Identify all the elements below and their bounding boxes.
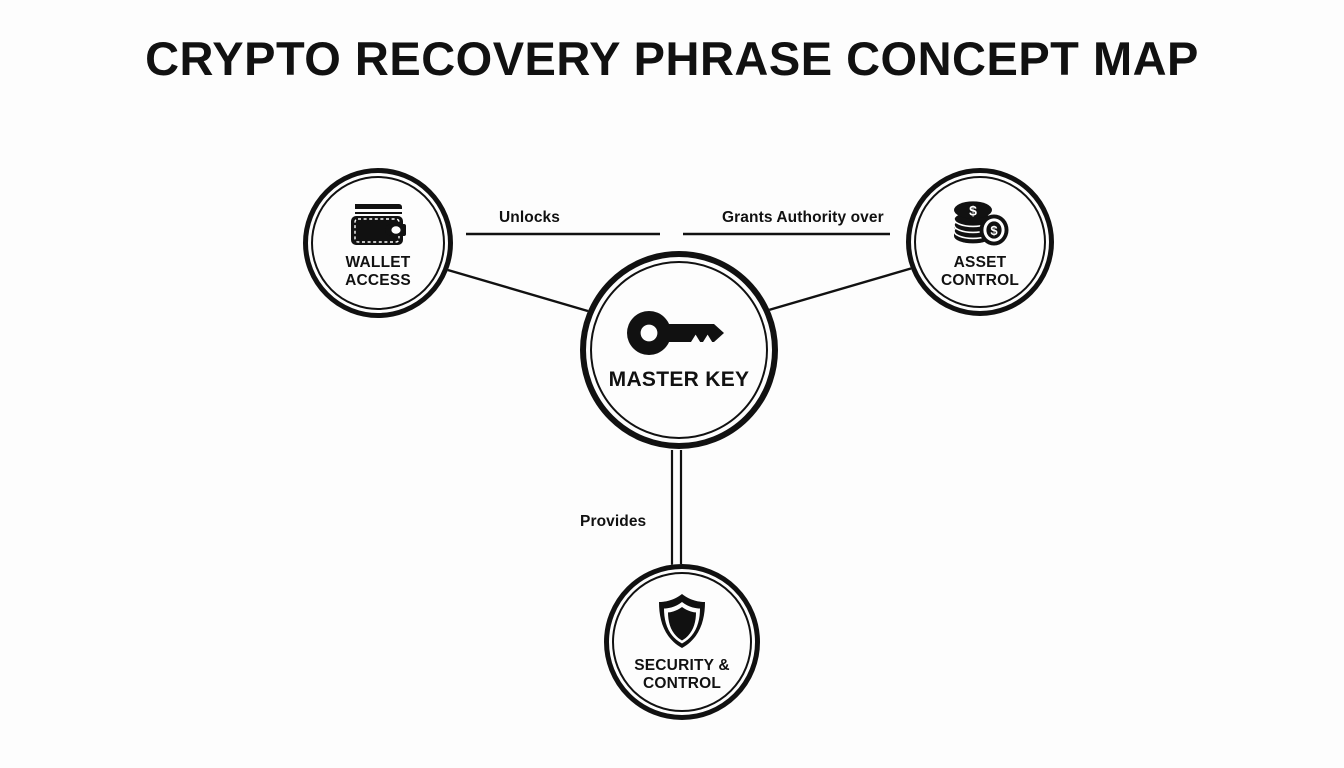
edge-master-to-asset (762, 267, 916, 312)
node-asset-control[interactable]: $ $ ASSET CONTROL (906, 168, 1054, 316)
node-label-security-control: SECURITY & CONTROL (634, 657, 730, 692)
node-label-wallet-access: WALLET ACCESS (345, 254, 411, 289)
concept-map-canvas: CRYPTO RECOVERY PHRASE CONCEPT MAP Unloc… (0, 0, 1344, 768)
page-title: CRYPTO RECOVERY PHRASE CONCEPT MAP (0, 31, 1344, 86)
svg-text:$: $ (969, 203, 977, 219)
coins-icon: $ $ (949, 195, 1011, 247)
edge-label-provides: Provides (580, 513, 646, 531)
wallet-icon (347, 197, 409, 247)
shield-icon (655, 592, 709, 650)
key-icon (623, 309, 735, 357)
node-label-asset-control: ASSET CONTROL (941, 254, 1019, 289)
node-security-control[interactable]: SECURITY & CONTROL (604, 564, 760, 720)
node-wallet-access[interactable]: WALLET ACCESS (303, 168, 453, 318)
node-label-master-key: MASTER KEY (609, 368, 750, 392)
edge-wallet-to-master (441, 268, 598, 314)
svg-text:$: $ (990, 223, 998, 238)
edge-label-grants: Grants Authority over (722, 209, 884, 227)
edge-label-unlocks: Unlocks (499, 209, 560, 227)
node-master-key[interactable]: MASTER KEY (580, 251, 778, 449)
